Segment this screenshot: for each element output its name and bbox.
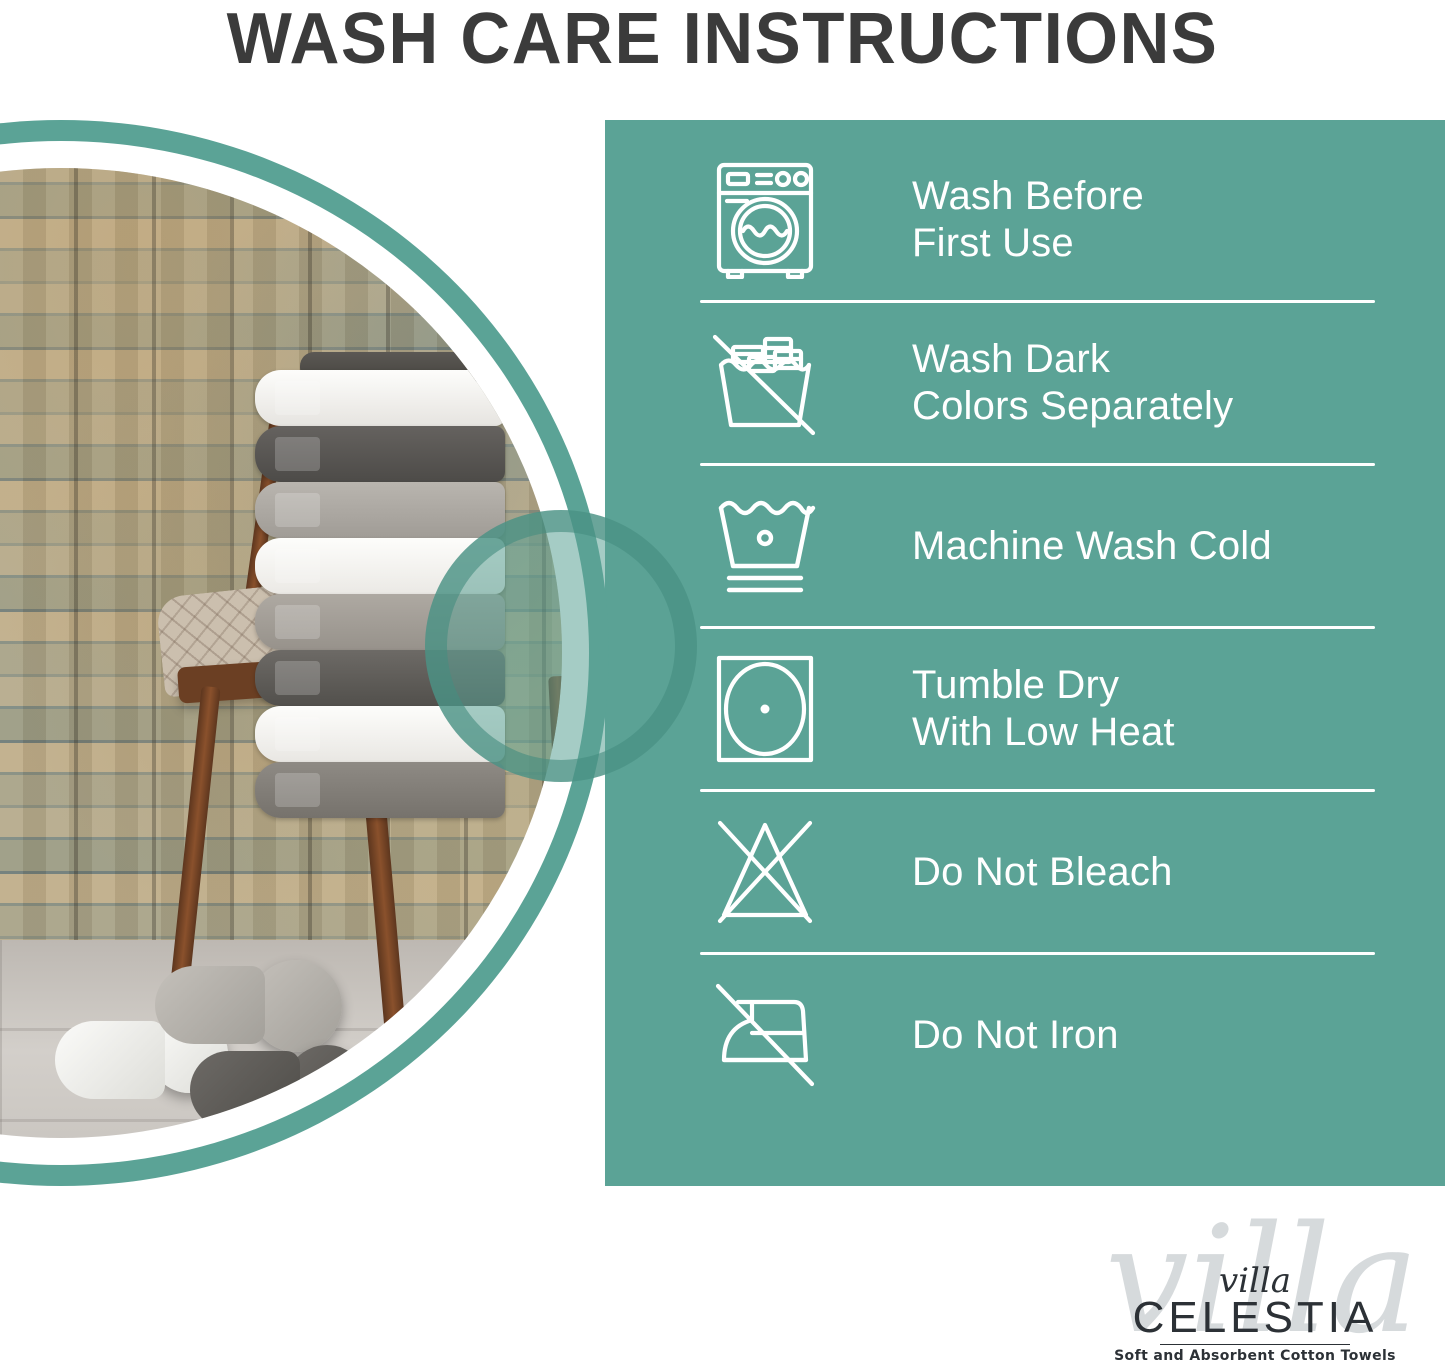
instruction-label: Machine Wash Cold — [830, 523, 1375, 570]
do-not-bleach-icon — [700, 815, 830, 929]
brand-rule — [1160, 1344, 1350, 1345]
instruction-row-do-not-iron: Do Not Iron — [700, 955, 1375, 1115]
instruction-label: Do Not Iron — [830, 1012, 1375, 1059]
instruction-row-wash-dark-colors-separately: Wash Dark Colors Separately — [700, 303, 1375, 463]
rolled-towel — [250, 960, 342, 1052]
do-not-iron-icon — [700, 978, 830, 1092]
instruction-label-line1: Do Not Iron — [912, 1012, 1375, 1059]
laundry-basket-no-icon — [700, 327, 830, 439]
teal-circle-accent — [425, 510, 697, 782]
folded-towel — [255, 482, 505, 538]
folded-towel — [255, 426, 505, 482]
instruction-label-line2: First Use — [912, 220, 1375, 267]
instruction-label-line1: Tumble Dry — [912, 662, 1375, 709]
instruction-label: Tumble Dry With Low Heat — [830, 662, 1375, 756]
instruction-row-wash-before-first-use: Wash Before First Use — [700, 140, 1375, 300]
instruction-label-line2: Colors Separately — [912, 383, 1375, 430]
brand-logo: villa villa CELESTIA Soft and Absorbent … — [1105, 1228, 1405, 1366]
brand-name-text: CELESTIA — [1105, 1296, 1405, 1340]
washing-machine-icon — [700, 161, 830, 279]
page-title: WASH CARE INSTRUCTIONS — [29, 0, 1416, 78]
instruction-label-line2: With Low Heat — [912, 709, 1375, 756]
instruction-row-tumble-dry-with-low-heat: Tumble Dry With Low Heat — [700, 629, 1375, 789]
folded-towel — [255, 370, 505, 426]
instruction-label-line1: Wash Before — [912, 173, 1375, 220]
tumble-dry-low-icon — [700, 652, 830, 766]
instruction-label-line1: Wash Dark — [912, 336, 1375, 383]
folded-towel — [255, 762, 505, 818]
brand-tagline-text: Soft and Absorbent Cotton Towels — [1105, 1348, 1405, 1364]
instruction-label: Do Not Bleach — [830, 849, 1375, 896]
instruction-label: Wash Before First Use — [830, 173, 1375, 267]
instruction-list: Wash Before First Use Wash Dark Colors S… — [700, 140, 1375, 1115]
rolled-towel — [285, 1045, 369, 1129]
instruction-row-machine-wash-cold: Machine Wash Cold — [700, 466, 1375, 626]
instruction-label-line1: Do Not Bleach — [912, 849, 1375, 896]
instruction-label: Wash Dark Colors Separately — [830, 336, 1375, 430]
instruction-label-line1: Machine Wash Cold — [912, 523, 1375, 570]
instruction-row-do-not-bleach: Do Not Bleach — [700, 792, 1375, 952]
wash-tub-cold-icon — [700, 494, 830, 598]
